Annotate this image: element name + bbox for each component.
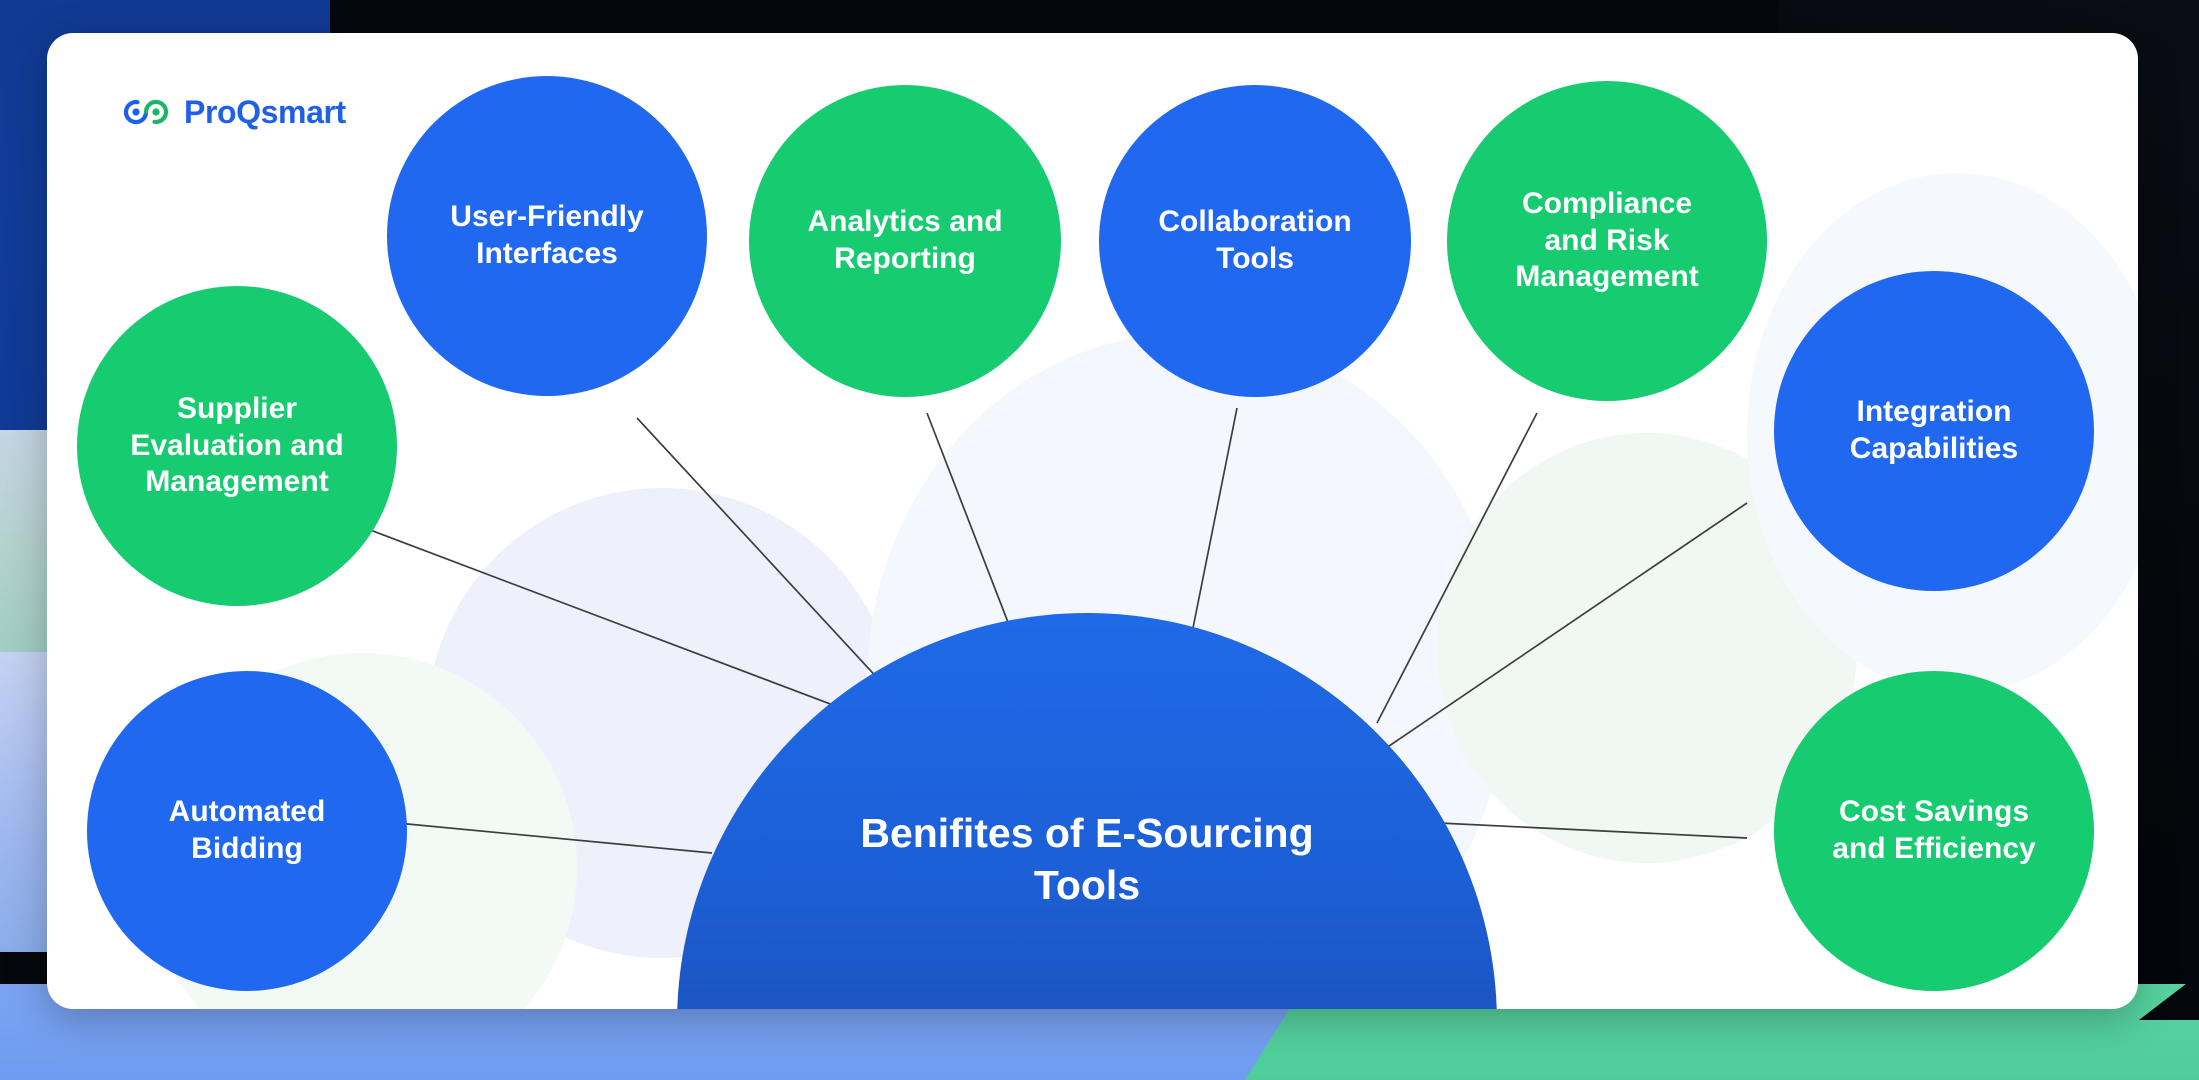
infographic-canvas: ProQsmart Supplier Evaluation and Manage…	[0, 0, 2199, 1080]
node-label: User-Friendly Interfaces	[397, 199, 697, 272]
node-user-friendly-interfaces[interactable]: User-Friendly Interfaces	[387, 76, 707, 396]
node-analytics-and-reporting[interactable]: Analytics and Reporting	[749, 85, 1061, 397]
node-collaboration-tools[interactable]: Collaboration Tools	[1099, 85, 1411, 397]
node-compliance-and-risk-management[interactable]: Compliance and Risk Management	[1447, 81, 1767, 401]
node-label: Automated Bidding	[97, 794, 397, 867]
node-label: Integration Capabilities	[1784, 394, 2084, 467]
node-label: Cost Savings and Efficiency	[1784, 794, 2084, 867]
node-automated-bidding[interactable]: Automated Bidding	[87, 671, 407, 991]
infinity-loop-icon	[122, 97, 170, 127]
node-cost-savings-and-efficiency[interactable]: Cost Savings and Efficiency	[1774, 671, 2094, 991]
content-card: ProQsmart Supplier Evaluation and Manage…	[47, 33, 2138, 1009]
node-supplier-evaluation-and-management[interactable]: Supplier Evaluation and Management	[77, 286, 397, 606]
node-label: Compliance and Risk Management	[1457, 186, 1757, 296]
node-integration-capabilities[interactable]: Integration Capabilities	[1774, 271, 2094, 591]
brand-logo[interactable]: ProQsmart	[122, 96, 346, 128]
node-label: Collaboration Tools	[1109, 204, 1401, 277]
center-node-label: Benifites of E-Sourcing Tools	[767, 807, 1407, 912]
node-label: Supplier Evaluation and Management	[87, 391, 387, 501]
brand-name: ProQsmart	[184, 96, 346, 128]
node-label: Analytics and Reporting	[759, 204, 1051, 277]
